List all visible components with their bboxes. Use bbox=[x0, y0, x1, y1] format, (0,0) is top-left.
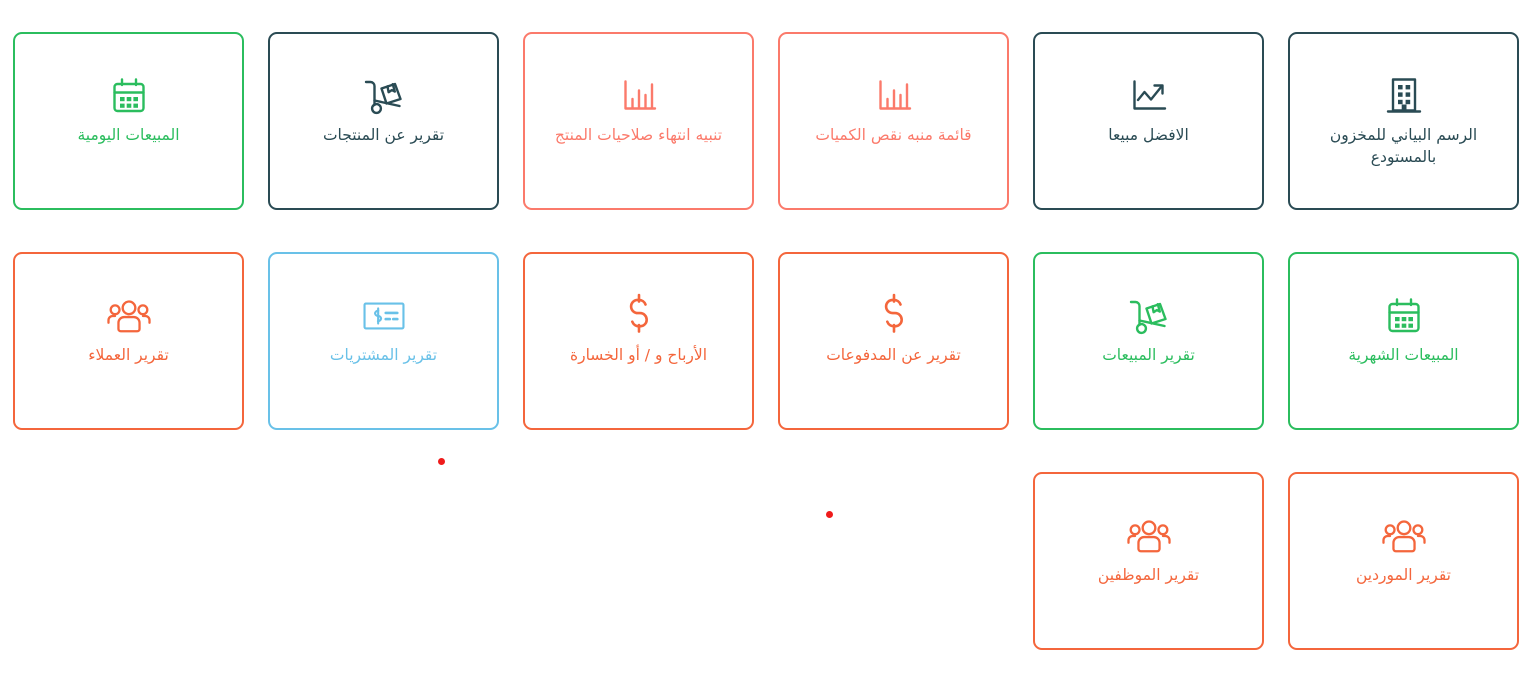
people-group-icon bbox=[1381, 516, 1427, 556]
report-card-label: تقرير العملاء bbox=[76, 344, 181, 366]
report-card-suppliers-report[interactable]: تقرير الموردين bbox=[1288, 472, 1519, 650]
calendar-icon bbox=[1381, 296, 1427, 336]
report-card-label: تقرير عن المنتجات bbox=[311, 124, 456, 146]
report-card-label: تقرير الموظفين bbox=[1086, 564, 1211, 586]
people-group-icon bbox=[106, 296, 152, 336]
reports-grid: المبيعات اليومية تقرير عن المنتجات تنبيه… bbox=[0, 0, 1527, 697]
report-card-daily-sales[interactable]: المبيعات اليومية bbox=[13, 32, 244, 210]
hand-truck-icon bbox=[361, 76, 407, 116]
report-card-label: تقرير المبيعات bbox=[1090, 344, 1207, 366]
report-card-label: الأرباح و / أو الخسارة bbox=[558, 344, 719, 366]
report-card-payments-report[interactable]: تقرير عن المدفوعات bbox=[778, 252, 1009, 430]
hand-truck-icon bbox=[1126, 296, 1172, 336]
dollar-sign-icon bbox=[871, 296, 917, 336]
report-card-monthly-sales[interactable]: المبيعات الشهرية bbox=[1288, 252, 1519, 430]
report-card-employees-report[interactable]: تقرير الموظفين bbox=[1033, 472, 1264, 650]
dot-marker-2 bbox=[826, 511, 833, 518]
report-card-sales-report[interactable]: تقرير المبيعات bbox=[1033, 252, 1264, 430]
report-card-best-selling[interactable]: الافضل مبيعا bbox=[1033, 32, 1264, 210]
report-card-label: تقرير عن المدفوعات bbox=[814, 344, 973, 366]
bar-chart-icon bbox=[616, 76, 662, 116]
building-icon bbox=[1381, 76, 1427, 116]
report-card-label: تقرير المشتريات bbox=[318, 344, 449, 366]
report-card-customers-report[interactable]: تقرير العملاء bbox=[13, 252, 244, 430]
report-card-label: تقرير الموردين bbox=[1344, 564, 1463, 586]
report-card-warehouse-stock-chart[interactable]: الرسم البياني للمخزون بالمستودع bbox=[1288, 32, 1519, 210]
banknote-icon bbox=[361, 296, 407, 336]
report-card-profit-loss-report[interactable]: الأرباح و / أو الخسارة bbox=[523, 252, 754, 430]
report-card-label: الرسم البياني للمخزون بالمستودع bbox=[1290, 124, 1517, 169]
line-chart-up-icon bbox=[1126, 76, 1172, 116]
report-card-product-expiry-alert[interactable]: تنبيه انتهاء صلاحيات المنتج bbox=[523, 32, 754, 210]
report-card-low-quantity-alert-list[interactable]: قائمة منبه نقص الكميات bbox=[778, 32, 1009, 210]
dot-marker-1 bbox=[438, 458, 445, 465]
report-card-label: قائمة منبه نقص الكميات bbox=[803, 124, 983, 146]
report-card-purchases-report[interactable]: تقرير المشتريات bbox=[268, 252, 499, 430]
calendar-icon bbox=[106, 76, 152, 116]
report-card-label: المبيعات الشهرية bbox=[1336, 344, 1470, 366]
report-card-products-report[interactable]: تقرير عن المنتجات bbox=[268, 32, 499, 210]
bar-chart-icon bbox=[871, 76, 917, 116]
report-card-label: تنبيه انتهاء صلاحيات المنتج bbox=[543, 124, 734, 146]
people-group-icon bbox=[1126, 516, 1172, 556]
dollar-sign-icon bbox=[616, 296, 662, 336]
report-card-label: المبيعات اليومية bbox=[65, 124, 191, 146]
report-card-label: الافضل مبيعا bbox=[1096, 124, 1201, 146]
